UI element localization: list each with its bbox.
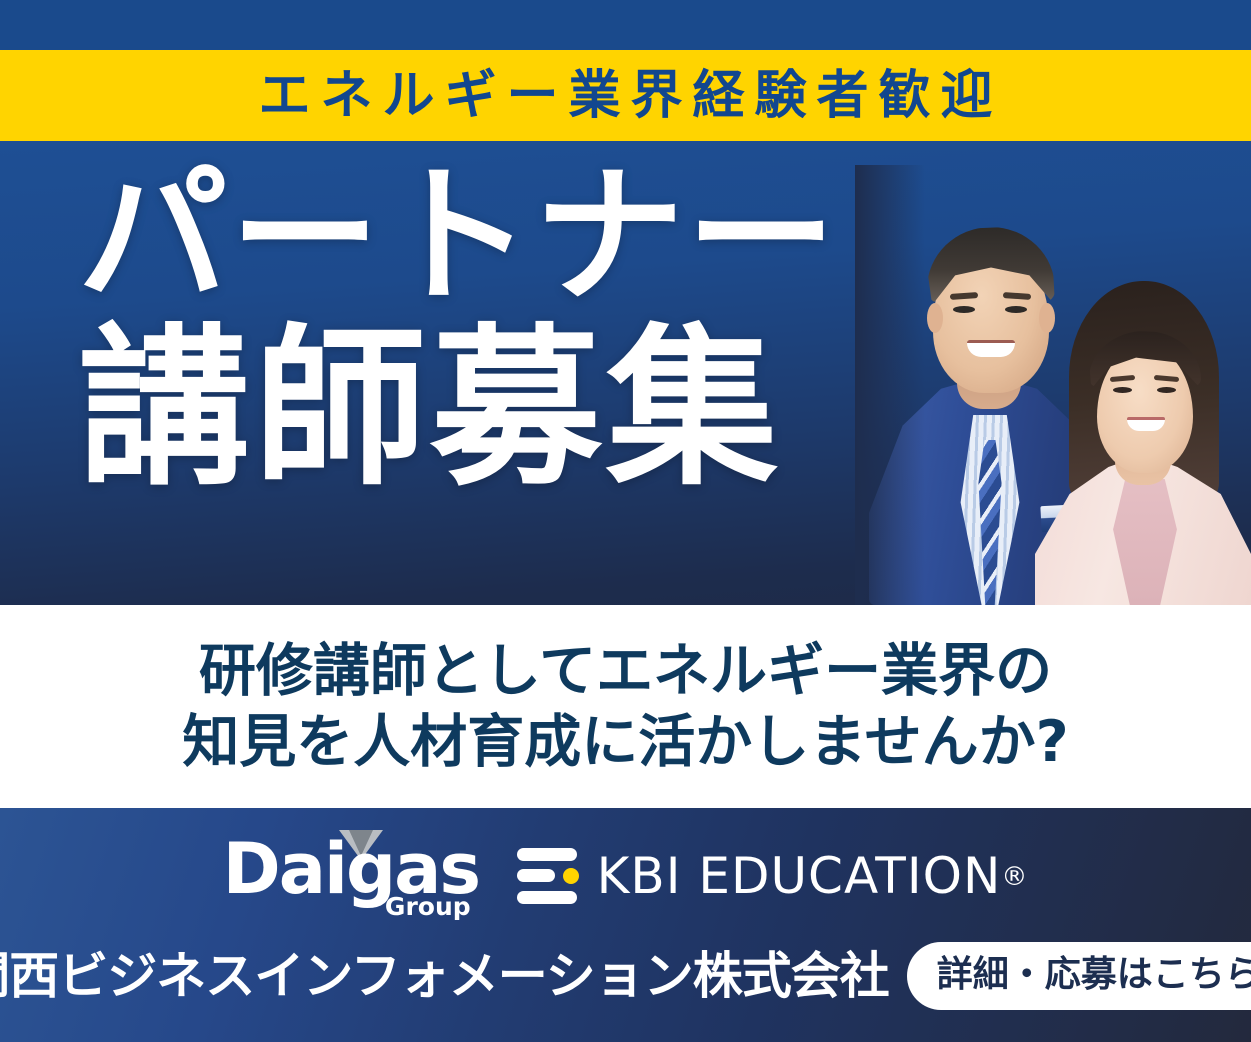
- logo-row: Daigas Group KBI EDUCATION®: [0, 826, 1251, 926]
- female-eye-right: [1157, 387, 1176, 393]
- hero-headline: パートナー 講師募集: [78, 163, 908, 497]
- kbi-registered-mark: ®: [1001, 862, 1028, 892]
- kbi-wordmark: KBI EDUCATION: [597, 847, 1002, 905]
- eyebrow-band: エネルギー業界経験者歓迎: [0, 50, 1251, 141]
- kbi-dot-icon: [563, 868, 579, 884]
- kbi-bar-bottom: [517, 891, 577, 904]
- recruitment-banner: エネルギー業界経験者歓迎: [0, 0, 1251, 1042]
- kbi-bar-top: [517, 848, 577, 861]
- female-instructor-photo: [1035, 275, 1251, 605]
- male-ear-left: [927, 303, 943, 333]
- instructors-photo: [855, 165, 1251, 605]
- kbi-wordmark-wrap: KBI EDUCATION®: [597, 851, 1029, 901]
- hero-headline-line-2: 講師募集: [78, 325, 908, 497]
- female-smile: [1127, 417, 1165, 431]
- male-eye-right: [1005, 306, 1027, 313]
- subcopy-line-2: 知見を人材育成に活かしませんか?: [182, 712, 1068, 772]
- footer-section: Daigas Group KBI EDUCATION® 関西: [0, 808, 1251, 1042]
- hero-section: パートナー 講師募集: [0, 141, 1251, 605]
- male-smile: [967, 340, 1015, 357]
- details-apply-button[interactable]: 詳細・応募はこちら: [907, 942, 1251, 1010]
- kbi-bar-middle: [517, 869, 555, 882]
- company-row: 関西ビジネスインフォメーション株式会社 詳細・応募はこちら: [0, 930, 1251, 1022]
- subcopy-line-1: 研修講師としてエネルギー業界の: [199, 641, 1052, 701]
- eyebrow-text: エネルギー業界経験者歓迎: [248, 70, 1002, 122]
- male-eye-left: [953, 306, 975, 313]
- company-name: 関西ビジネスインフォメーション株式会社: [0, 951, 889, 1001]
- female-eye-left: [1113, 387, 1132, 393]
- daigas-group-logo: Daigas Group: [223, 828, 473, 924]
- kbi-education-logo: KBI EDUCATION®: [517, 836, 1029, 916]
- subcopy-section: 研修講師としてエネルギー業界の 知見を人材育成に活かしませんか?: [0, 605, 1251, 808]
- daigas-group-label: Group: [385, 894, 471, 919]
- kbi-bars-icon: [517, 848, 577, 904]
- top-accent-strip: [0, 0, 1251, 50]
- hero-headline-line-1: パートナー: [78, 163, 908, 313]
